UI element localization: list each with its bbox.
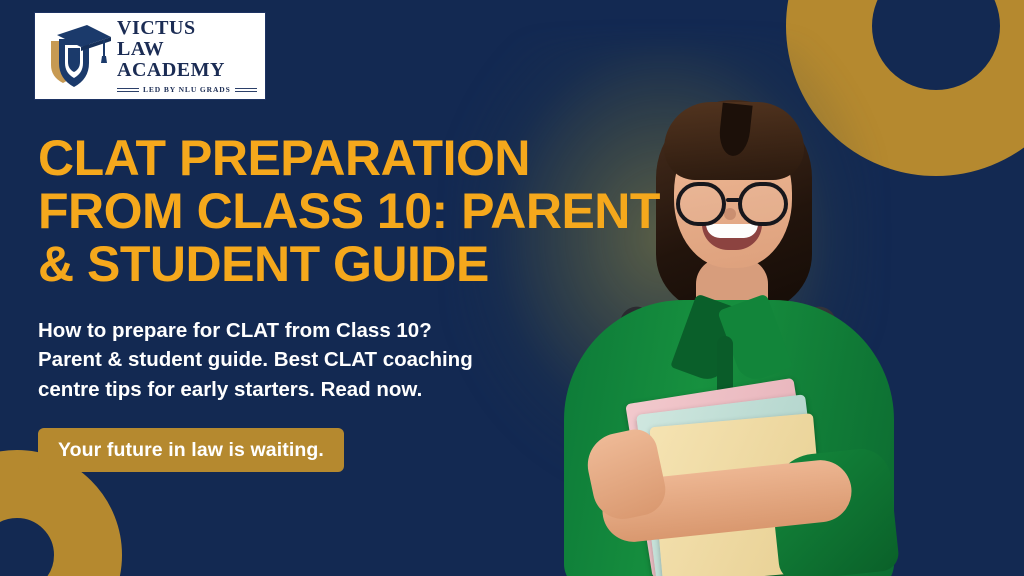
headline-line-3: & STUDENT GUIDE	[38, 238, 658, 291]
teeth	[706, 224, 758, 238]
glasses-bridge	[726, 198, 740, 202]
promo-banner: VICTUS LAW ACADEMY LED BY NLU GRADS CLAT…	[0, 0, 1024, 576]
subcopy-line-2: Parent & student guide. Best CLAT coachi…	[38, 345, 598, 374]
rule-left	[117, 88, 139, 92]
logo-tagline: LED BY NLU GRADS	[143, 85, 231, 94]
graduation-cap-shield-icon	[41, 19, 115, 93]
brand-logo[interactable]: VICTUS LAW ACADEMY LED BY NLU GRADS	[34, 12, 266, 100]
logo-wordmark: VICTUS LAW ACADEMY LED BY NLU GRADS	[117, 18, 257, 95]
glasses-lens-right	[738, 182, 788, 226]
logo-tagline-row: LED BY NLU GRADS	[117, 85, 257, 94]
cta-button[interactable]: Your future in law is waiting.	[38, 428, 344, 472]
subheadline: How to prepare for CLAT from Class 10? P…	[38, 316, 598, 404]
subcopy-line-3: centre tips for early starters. Read now…	[38, 375, 598, 404]
headline-line-1: CLAT PREPARATION	[38, 132, 658, 185]
logo-line-2: LAW ACADEMY	[117, 39, 257, 80]
headline-line-2: FROM CLASS 10: PARENT	[38, 185, 658, 238]
page-title: CLAT PREPARATION FROM CLASS 10: PARENT &…	[38, 132, 658, 290]
logo-line-1: VICTUS	[117, 18, 257, 39]
subcopy-line-1: How to prepare for CLAT from Class 10?	[38, 316, 598, 345]
rule-right	[235, 88, 257, 92]
nose	[724, 208, 736, 220]
glasses-lens-left	[676, 182, 726, 226]
